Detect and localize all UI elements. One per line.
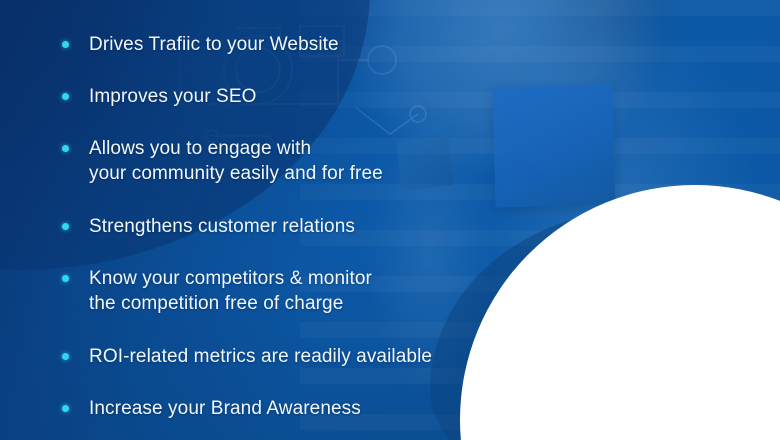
bullet-dot-icon <box>62 353 69 360</box>
background-stripes <box>300 0 780 440</box>
bullet-dot-icon <box>62 275 69 282</box>
list-item-label: Improves your SEO <box>89 84 256 109</box>
slide-canvas: Drives Trafiic to your Website Improves … <box>0 0 780 440</box>
list-item: Increase your Brand Awareness <box>62 396 361 421</box>
list-item-label: Increase your Brand Awareness <box>89 396 361 421</box>
corner-cut-shape <box>460 185 780 440</box>
bullet-dot-icon <box>62 223 69 230</box>
list-item: Drives Trafiic to your Website <box>62 32 339 57</box>
list-item: Improves your SEO <box>62 84 256 109</box>
bullet-dot-icon <box>62 145 69 152</box>
list-item-label: Drives Trafiic to your Website <box>89 32 339 57</box>
list-item: Strengthens customer relations <box>62 214 355 239</box>
list-item: Know your competitors & monitor the comp… <box>62 266 372 316</box>
list-item-label: ROI-related metrics are readily availabl… <box>89 344 432 369</box>
list-item-label: Allows you to engage with your community… <box>89 136 383 186</box>
background-clipboard <box>492 84 615 207</box>
list-item-label: Know your competitors & monitor the comp… <box>89 266 372 316</box>
bullet-dot-icon <box>62 405 69 412</box>
bullet-dot-icon <box>62 93 69 100</box>
background-tablet-edge <box>397 137 454 190</box>
list-item: ROI-related metrics are readily availabl… <box>62 344 432 369</box>
bullet-dot-icon <box>62 41 69 48</box>
list-item-label: Strengthens customer relations <box>89 214 355 239</box>
background-lobe <box>430 210 780 440</box>
list-item: Allows you to engage with your community… <box>62 136 383 186</box>
